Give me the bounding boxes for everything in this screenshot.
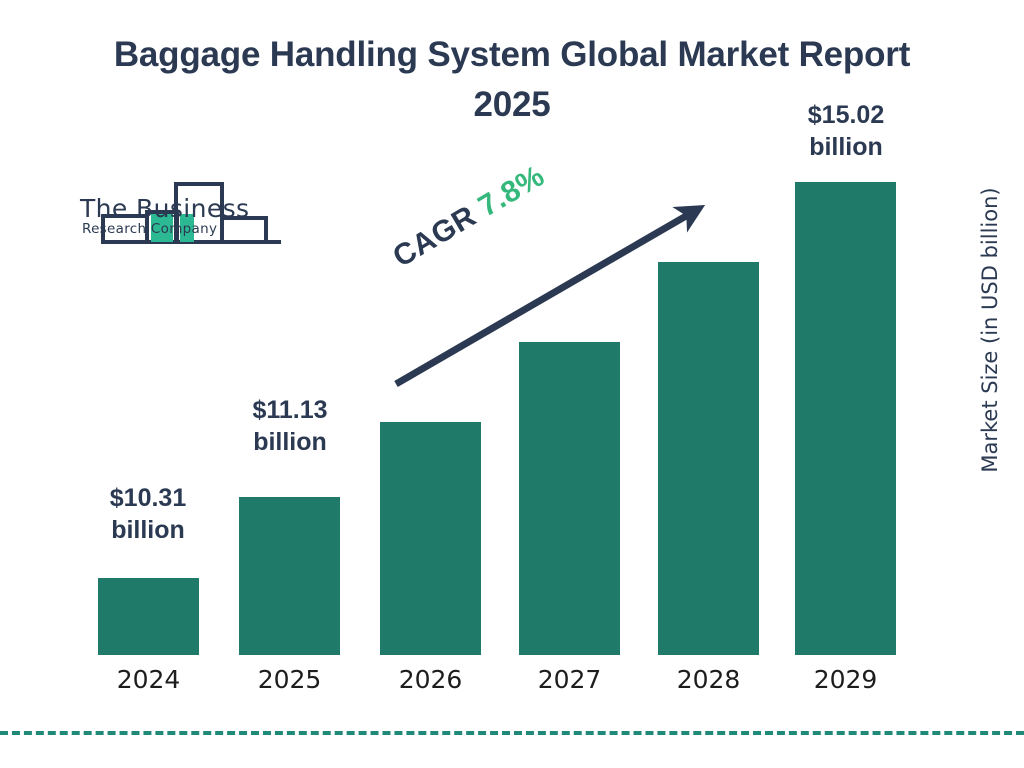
bar-chart-plot-area: $10.31 billion 2024 $11.13 billion 2025 … [0, 0, 1024, 768]
x-axis-tick-2026: 2026 [360, 665, 501, 694]
y-axis-label: Market Size (in USD billion) [978, 185, 1002, 475]
x-axis-tick-2029: 2029 [775, 665, 916, 694]
bar-value-label-2029: $15.02 billion [746, 100, 946, 163]
bar-2026[interactable] [380, 422, 481, 655]
footer-divider [0, 731, 1024, 735]
bar-2028[interactable] [658, 262, 759, 655]
chart-page: Baggage Handling System Global Market Re… [0, 0, 1024, 768]
bar-2025[interactable] [239, 497, 340, 655]
bar-2029[interactable] [795, 182, 896, 655]
bar-2024[interactable] [98, 578, 199, 655]
x-axis-tick-2028: 2028 [638, 665, 779, 694]
bar-2027[interactable] [519, 342, 620, 655]
x-axis-tick-2027: 2027 [499, 665, 640, 694]
x-axis-tick-2025: 2025 [219, 665, 360, 694]
bar-value-label-2025: $11.13 billion [190, 395, 390, 458]
bar-value-label-2024: $10.31 billion [48, 483, 248, 546]
x-axis-tick-2024: 2024 [78, 665, 219, 694]
